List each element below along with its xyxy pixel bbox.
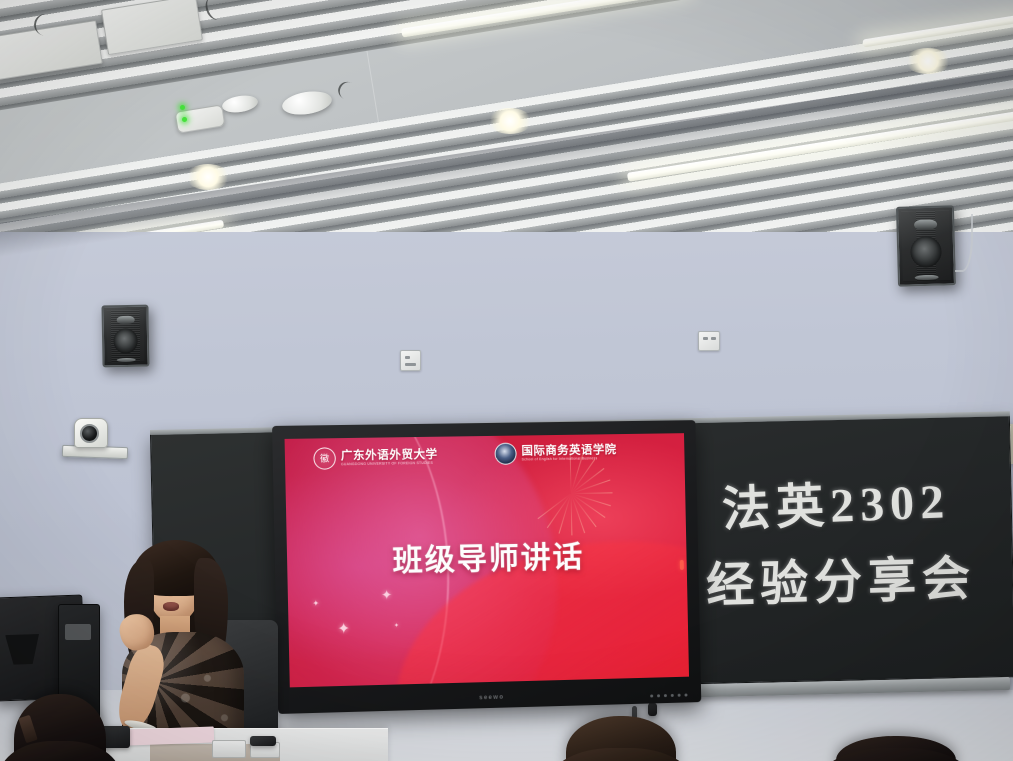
- ceiling-downlight: [488, 108, 532, 134]
- classroom-photo-scene: 法英2302 经验分享会: [0, 0, 1013, 761]
- school-name-en: School of English for International Busi…: [522, 457, 617, 462]
- status-led-indicator: [180, 105, 185, 110]
- display-bezel: ✦ ✦ ✦ ✦ 徽 广东外语外贸大学 GUANGDONG UNIVERSITY …: [272, 420, 701, 714]
- student-shoulder: [548, 748, 693, 761]
- university-seal-icon: 徽: [313, 447, 336, 470]
- interactive-flat-panel[interactable]: ✦ ✦ ✦ ✦ 徽 广东外语外贸大学 GUANGDONG UNIVERSITY …: [272, 420, 701, 714]
- outlet-slot: [405, 356, 410, 359]
- key-dot[interactable]: [678, 694, 681, 697]
- key-dot[interactable]: [671, 694, 674, 697]
- key-dot[interactable]: [650, 694, 653, 697]
- logo-university: 徽 广东外语外贸大学 GUANGDONG UNIVERSITY OF FOREI…: [313, 446, 438, 470]
- slide-logo-row: 徽 广东外语外贸大学 GUANGDONG UNIVERSITY OF FOREI…: [285, 438, 685, 478]
- monitor-mount: [5, 634, 40, 665]
- star-decoration: ✦: [312, 600, 319, 608]
- logo-school: 国际商务英语学院 School of English for Internati…: [494, 441, 616, 465]
- speaker-woofer: [113, 328, 138, 353]
- wall-speaker-left: [101, 305, 149, 368]
- remote-on-podium: [250, 736, 276, 746]
- display-control-keys[interactable]: [650, 694, 687, 698]
- key-dot[interactable]: [664, 694, 667, 697]
- ceiling-downlight: [186, 164, 230, 190]
- star-decoration: ✦: [394, 623, 399, 629]
- blackboard-line-2: 经验分享会: [705, 538, 977, 616]
- university-name-cn: 广东外语外贸大学: [341, 448, 438, 461]
- school-emblem-icon: [494, 443, 516, 465]
- wall-outlet-plate[interactable]: [698, 331, 720, 351]
- outlet-slot: [711, 337, 716, 340]
- star-decoration: ✦: [381, 588, 392, 601]
- speaker-tweeter: [914, 219, 937, 230]
- slide-title: 班级导师讲话: [287, 531, 687, 583]
- power-led-indicator: [680, 560, 684, 570]
- key-dot[interactable]: [684, 694, 687, 697]
- display-brand-label: seewo: [479, 695, 504, 702]
- presenter-mouth-speaking: [163, 602, 179, 611]
- papers-on-podium: [128, 727, 215, 746]
- tray-connector: [648, 703, 657, 716]
- ceiling-downlight: [905, 48, 951, 74]
- tower-badge: [65, 624, 91, 640]
- star-decoration: ✦: [337, 621, 350, 636]
- wall-outlet-plate[interactable]: [400, 350, 421, 371]
- status-led-indicator: [182, 117, 187, 122]
- presentation-screen[interactable]: ✦ ✦ ✦ ✦ 徽 广东外语外贸大学 GUANGDONG UNIVERSITY …: [285, 433, 689, 687]
- speaker-tweeter: [116, 316, 134, 324]
- blackboard-line-1: 法英2302: [721, 461, 952, 540]
- outlet-slot: [703, 337, 708, 340]
- box-on-podium: [212, 740, 246, 758]
- key-dot[interactable]: [657, 694, 660, 697]
- university-name-en: GUANGDONG UNIVERSITY OF FOREIGN STUDIES: [341, 462, 438, 467]
- school-name-cn: 国际商务英语学院: [521, 444, 616, 457]
- camera-lens: [80, 424, 99, 443]
- student-shoulder: [0, 741, 121, 761]
- outlet-slot: [405, 363, 416, 366]
- student-shoulder: [817, 748, 975, 761]
- wall-speaker-right: [896, 205, 956, 286]
